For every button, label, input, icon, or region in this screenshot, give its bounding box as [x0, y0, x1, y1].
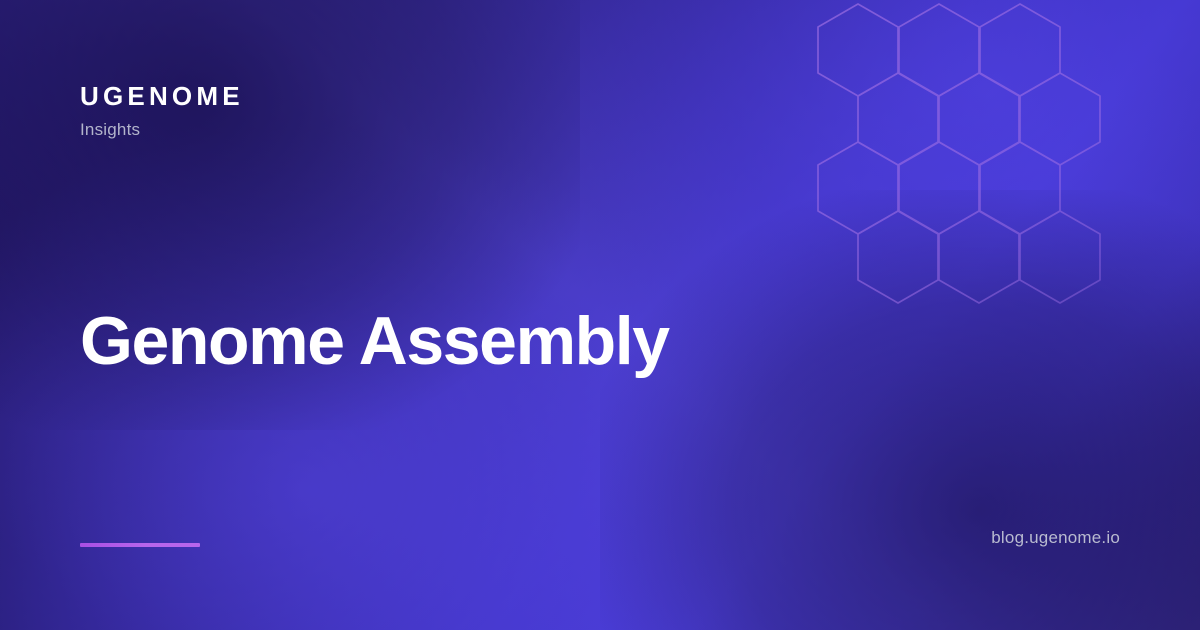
og-card: UGENOME Insights Genome Assembly blog.ug… — [0, 0, 1200, 630]
accent-underline — [80, 543, 200, 547]
background-vignette-bottom-right — [600, 190, 1200, 630]
brand-name: UGENOME — [80, 82, 244, 111]
brand-tagline: Insights — [80, 120, 244, 140]
page-title: Genome Assembly — [80, 303, 669, 379]
site-url: blog.ugenome.io — [991, 528, 1120, 548]
brand-block: UGENOME Insights — [80, 82, 244, 140]
